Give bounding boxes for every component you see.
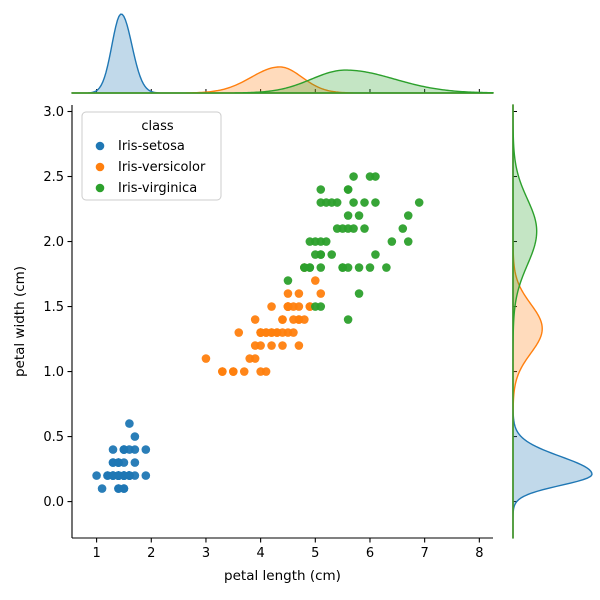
scatter-point — [316, 302, 325, 311]
scatter-point — [322, 198, 331, 207]
scatter-point — [114, 458, 123, 467]
scatter-point — [333, 224, 342, 233]
x-tick-label: 2 — [147, 546, 155, 561]
x-tick-label: 8 — [475, 546, 483, 561]
y-tick-label: 1.5 — [43, 300, 64, 315]
x-tick-label: 5 — [311, 546, 319, 561]
scatter-point — [289, 328, 298, 337]
scatter-point — [289, 315, 298, 324]
scatter-point — [316, 289, 325, 298]
scatter-point — [234, 328, 243, 337]
figure-canvas: 123456780.00.51.01.52.02.53.0petal lengt… — [0, 0, 600, 600]
scatter-point — [344, 224, 353, 233]
scatter-point — [371, 198, 380, 207]
legend-marker-icon — [96, 142, 105, 151]
scatter-point — [92, 471, 101, 480]
scatter-point — [142, 445, 151, 454]
scatter-point — [273, 328, 282, 337]
scatter-point — [295, 302, 304, 311]
scatter-point — [300, 315, 309, 324]
scatter-point — [142, 471, 151, 480]
scatter-point — [295, 341, 304, 350]
marginal-right-kde-axes — [513, 105, 592, 538]
scatter-point — [278, 315, 287, 324]
legend-marker-icon — [96, 184, 105, 193]
scatter-point — [278, 341, 287, 350]
scatter-point — [322, 237, 331, 246]
scatter-point — [349, 198, 358, 207]
scatter-point — [355, 263, 364, 272]
scatter-point — [267, 341, 276, 350]
scatter-point — [398, 224, 407, 233]
scatter-series — [202, 263, 325, 376]
scatter-point — [218, 367, 227, 376]
scatter-point — [366, 263, 375, 272]
scatter-point — [98, 484, 107, 493]
scatter-point — [404, 211, 413, 220]
scatter-point — [311, 276, 320, 285]
scatter-point — [114, 471, 123, 480]
scatter-point — [360, 224, 369, 233]
scatter-point — [240, 367, 249, 376]
y-tick-label: 3.0 — [43, 105, 64, 120]
scatter-point — [245, 354, 254, 363]
scatter-point — [404, 237, 413, 246]
scatter-point — [360, 198, 369, 207]
scatter-point — [344, 211, 353, 220]
x-tick-label: 1 — [92, 546, 100, 561]
scatter-point — [306, 237, 315, 246]
legend-item-label: Iris-virginica — [118, 181, 197, 196]
x-tick-label: 7 — [421, 546, 429, 561]
scatter-point — [131, 458, 140, 467]
marginal-top-kde-axes — [72, 14, 493, 93]
scatter-point — [256, 341, 265, 350]
scatter-point — [415, 198, 424, 207]
scatter-point — [251, 315, 260, 324]
scatter-point — [355, 211, 364, 220]
scatter-point — [284, 276, 293, 285]
x-tick-label: 6 — [366, 546, 374, 561]
scatter-point — [344, 185, 353, 194]
scatter-point — [202, 354, 211, 363]
scatter-point — [338, 263, 347, 272]
scatter-point — [349, 172, 358, 181]
scatter-point — [229, 367, 238, 376]
scatter-point — [295, 289, 304, 298]
legend-title: class — [141, 119, 173, 134]
scatter-point — [371, 250, 380, 259]
legend[interactable]: classIris-setosaIris-versicolorIris-virg… — [82, 112, 221, 200]
scatter-point — [284, 302, 293, 311]
x-axis-label: petal length (cm) — [224, 568, 341, 584]
y-axis-label: petal width (cm) — [12, 266, 28, 377]
legend-item-label: Iris-setosa — [118, 139, 185, 154]
scatter-point — [316, 263, 325, 272]
scatter-point — [311, 250, 320, 259]
y-tick-label: 0.5 — [43, 430, 64, 445]
x-tick-label: 3 — [202, 546, 210, 561]
scatter-point — [131, 432, 140, 441]
scatter-point — [284, 289, 293, 298]
scatter-point — [382, 263, 391, 272]
y-tick-label: 2.5 — [43, 170, 64, 185]
y-tick-label: 2.0 — [43, 235, 64, 250]
legend-item-label: Iris-versicolor — [118, 160, 206, 175]
scatter-point — [371, 172, 380, 181]
scatter-point — [388, 237, 397, 246]
jointplot-figure: 123456780.00.51.01.52.02.53.0petal lengt… — [0, 0, 600, 600]
scatter-point — [300, 263, 309, 272]
scatter-point — [327, 250, 336, 259]
y-tick-label: 0.0 — [43, 495, 64, 510]
scatter-point — [262, 328, 271, 337]
scatter-point — [316, 185, 325, 194]
y-tick-label: 1.0 — [43, 365, 64, 380]
scatter-series — [284, 172, 424, 324]
scatter-point — [333, 198, 342, 207]
scatter-point — [109, 445, 118, 454]
x-tick-label: 4 — [256, 546, 264, 561]
legend-marker-icon — [96, 163, 105, 172]
scatter-point — [125, 419, 134, 428]
scatter-point — [267, 302, 276, 311]
scatter-point — [262, 367, 271, 376]
scatter-point — [355, 289, 364, 298]
scatter-series — [92, 419, 150, 493]
scatter-point — [114, 484, 123, 493]
scatter-point — [344, 315, 353, 324]
scatter-point — [120, 445, 129, 454]
